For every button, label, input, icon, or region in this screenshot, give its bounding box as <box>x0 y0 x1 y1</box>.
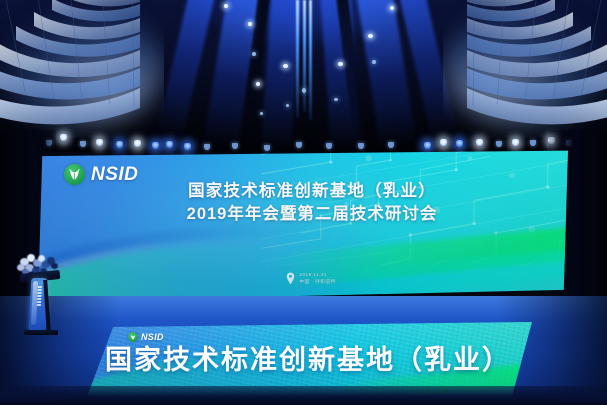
ceiling-spotlight <box>260 112 263 115</box>
ceiling-spotlight <box>283 64 288 68</box>
conference-stage-photo: NSID 国家技术标准创新基地（乳业） 2019年年会暨第二届技术研讨会 201… <box>0 0 607 405</box>
stage-lamp <box>496 141 502 147</box>
ceiling-spotlight <box>224 4 228 8</box>
fan-shell-chandelier-left <box>0 0 164 138</box>
event-title-line1: 国家技术标准创新基地（乳业） <box>56 180 568 203</box>
nsid-logo-text: NSID <box>141 333 164 342</box>
lectern-vertical-text <box>36 286 43 306</box>
ceiling-spotlight <box>248 22 252 26</box>
stage-lamp <box>80 141 86 147</box>
main-led-screen: NSID 国家技术标准创新基地（乳业） 2019年年会暨第二届技术研讨会 201… <box>38 150 568 302</box>
ceiling-spotlight <box>286 104 289 107</box>
nsid-leaf-emblem-icon <box>128 332 138 342</box>
stage-lamp <box>326 143 332 149</box>
location-pin-icon <box>286 272 295 285</box>
stage-lamp <box>476 139 483 147</box>
ceiling-spotlight <box>372 60 376 64</box>
podium-base-shadow <box>60 396 560 405</box>
ceiling-light-strip <box>296 0 299 118</box>
ceiling-light-strip <box>303 0 306 112</box>
ceiling-spotlight <box>368 34 373 38</box>
ceiling-spotlight <box>334 98 338 101</box>
stage-lamp <box>166 141 173 149</box>
ceiling-rigging-point <box>302 88 306 93</box>
stage-lamp <box>60 134 67 142</box>
stage-lamp <box>440 139 447 147</box>
stage-lamp <box>152 142 159 150</box>
speaker-lectern <box>22 256 58 334</box>
stage-lamp <box>530 140 536 146</box>
nsid-logo-podium: NSID <box>128 332 164 342</box>
stage-lamp <box>232 143 238 149</box>
ceiling-spotlight <box>390 6 394 10</box>
lectern-base <box>24 330 58 335</box>
stage-lamp <box>512 139 519 147</box>
ceiling-light-strip <box>309 0 312 120</box>
stage-lamp <box>296 142 302 148</box>
stage-lamp <box>456 140 463 148</box>
podium-title-text: 国家技术标准创新基地（乳业） <box>84 346 532 376</box>
stage-lamp <box>388 142 394 148</box>
venue-text: 2019.11.21 中国 · 呼和浩特 <box>299 272 335 284</box>
main-screen-title-block: 国家技术标准创新基地（乳业） 2019年年会暨第二届技术研讨会 <box>38 180 568 227</box>
stage-lamp <box>358 143 364 149</box>
stage-lamp <box>134 140 141 148</box>
stage-lamp <box>96 139 103 147</box>
ceiling-spotlight <box>256 82 260 86</box>
venue-info-block: 2019.11.21 中国 · 呼和浩特 <box>38 272 568 285</box>
event-title-line2: 2019年年会暨第二届技术研讨会 <box>56 203 568 226</box>
fan-shell-chandelier-right <box>443 0 607 138</box>
stage-lamp <box>424 142 431 150</box>
ceiling-spotlight <box>252 52 256 56</box>
ceiling-spotlight <box>338 62 343 66</box>
main-led-screen-surface: NSID 国家技术标准创新基地（乳业） 2019年年会暨第二届技术研讨会 201… <box>38 150 568 302</box>
stage-lamp <box>116 141 123 149</box>
venue-place: 中国 · 呼和浩特 <box>299 279 335 285</box>
